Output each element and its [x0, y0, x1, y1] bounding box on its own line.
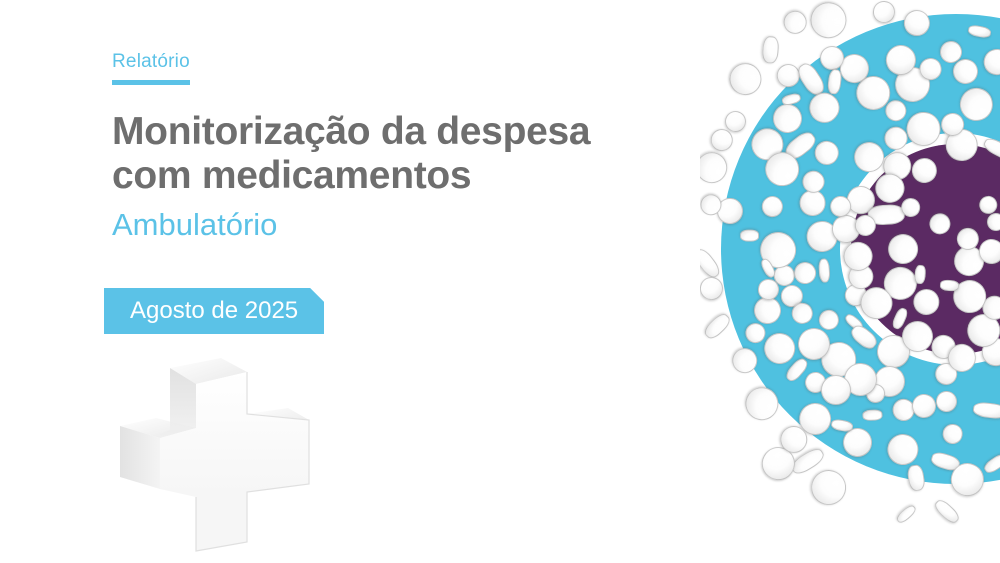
pill-icon — [872, 0, 895, 23]
pill-icon — [762, 36, 780, 64]
report-cover-page: Relatório Monitorização da despesa com m… — [0, 0, 1000, 563]
pill-icon — [940, 280, 960, 292]
pill-icon — [740, 230, 759, 242]
pill-icon — [780, 7, 811, 38]
eyebrow-label: Relatório — [112, 52, 190, 73]
pill-icon — [700, 147, 732, 188]
pill-icon — [803, 0, 854, 46]
date-badge: Agosto de 2025 — [104, 288, 324, 334]
cover-graphic — [700, 0, 1000, 563]
pill-icon — [700, 275, 726, 303]
page-subtitle: Ambulatório — [112, 207, 277, 243]
footer-logos: REPÚBLICA PORTUGUESA SAÚDE Infarmed Auto… — [0, 493, 1000, 563]
eyebrow-underline — [112, 80, 190, 85]
page-title: Monitorização da despesa com medicamento… — [112, 110, 672, 199]
pill-icon — [724, 59, 766, 101]
pill-icon — [779, 425, 807, 453]
eyebrow-block: Relatório — [112, 52, 190, 85]
pill-icon — [702, 311, 733, 342]
